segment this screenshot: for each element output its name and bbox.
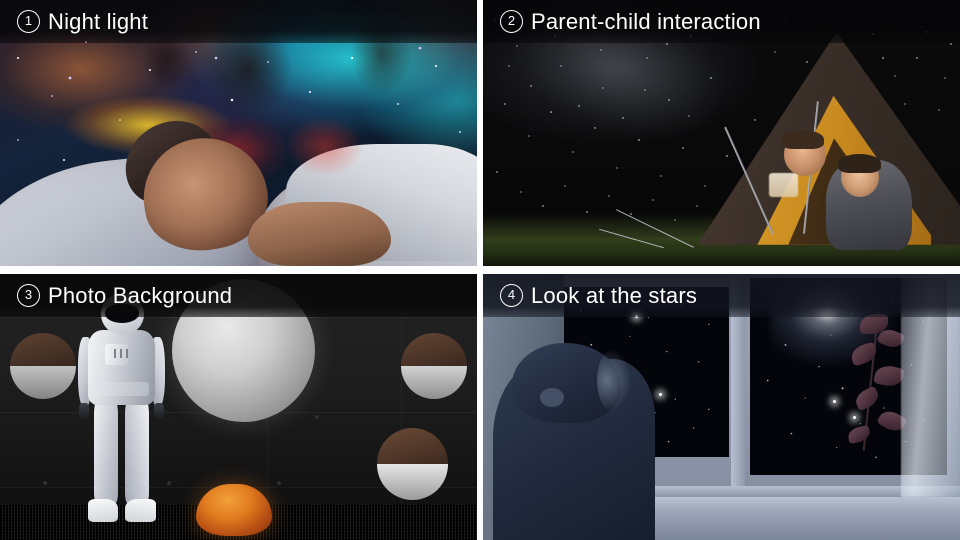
panel-caption: 4 Look at the stars	[483, 274, 960, 317]
vine-leaf	[846, 425, 871, 444]
panel-number-badge: 2	[500, 10, 523, 33]
panel-caption-label: Parent-child interaction	[531, 9, 761, 35]
eclipse-moon-right	[401, 333, 468, 400]
bright-star	[659, 393, 662, 396]
eclipse-moon-lower-right	[377, 428, 449, 500]
panel-number-badge: 3	[17, 284, 40, 307]
panel-parent-child-interaction[interactable]: 2 Parent-child interaction	[483, 0, 960, 266]
panel-caption: 3 Photo Background	[0, 274, 477, 317]
panel-caption: 1 Night light	[0, 0, 477, 43]
father-hair	[781, 130, 824, 149]
child-arm	[248, 202, 391, 266]
astronaut-glove-left	[79, 403, 89, 419]
vine-leaf	[849, 341, 879, 366]
orange-blood-moon	[196, 484, 272, 536]
panel-number-badge: 1	[17, 10, 40, 33]
child-hair	[838, 154, 881, 173]
astronaut-boot-right	[125, 499, 156, 522]
eclipse-moon-lit-part	[401, 366, 468, 399]
eclipse-moon-lit-part	[10, 366, 77, 399]
vine-leaf	[852, 386, 881, 412]
panel-caption: 2 Parent-child interaction	[483, 0, 960, 43]
astronaut-boot-left	[88, 499, 119, 522]
astronaut	[81, 293, 162, 527]
boy-ear	[540, 388, 564, 407]
astronaut-chest-controls	[114, 349, 132, 358]
panel-grid: 1 Night light	[0, 0, 960, 540]
astronaut-leg-right	[125, 400, 149, 503]
panel-caption-label: Night light	[48, 9, 148, 35]
panel-caption-label: Look at the stars	[531, 283, 697, 309]
panel-photo-background[interactable]: 3 Photo Background	[0, 274, 477, 540]
boy-rim-light	[597, 349, 630, 413]
panel-look-at-the-stars[interactable]: 4 Look at the stars	[483, 274, 960, 540]
eclipse-moon-left	[10, 333, 77, 400]
panel-caption-label: Photo Background	[48, 283, 232, 309]
panel-night-light[interactable]: 1 Night light	[0, 0, 477, 266]
astronaut-glove-right	[154, 403, 164, 419]
eclipse-moon-shadow-part	[377, 428, 449, 467]
wall-bolt	[315, 415, 320, 420]
eclipse-moon-lit-part	[377, 464, 449, 500]
astronaut-leg-left	[94, 400, 118, 503]
astronaut-belt	[92, 382, 149, 396]
vine-leaf	[873, 363, 904, 388]
red-light-spill-secondary	[286, 117, 362, 176]
eclipse-moon-shadow-part	[10, 333, 77, 369]
eclipse-moon-shadow-part	[401, 333, 468, 369]
panel-number-badge: 4	[500, 284, 523, 307]
